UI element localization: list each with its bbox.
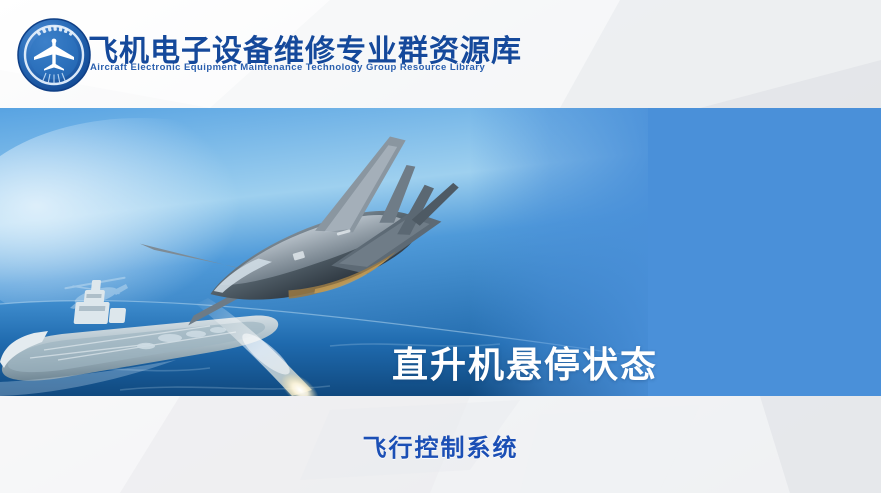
course-name: 飞行控制系统 — [0, 428, 881, 463]
site-header: 飞机电子设备维修专业群资源库 Aircraft Electronic Equip… — [0, 0, 881, 108]
slide-footer: 飞行控制系统 — [0, 396, 881, 493]
brand-title-english: Aircraft Electronic Equipment Maintenanc… — [90, 62, 485, 73]
organization-logo[interactable] — [16, 17, 92, 93]
circular-aircraft-emblem-icon — [16, 17, 92, 93]
title-banner: 直升机悬停状态 鄢 立 — [0, 108, 881, 396]
presentation-slide: 飞机电子设备维修专业群资源库 Aircraft Electronic Equip… — [0, 0, 881, 493]
slide-title: 直升机悬停状态 — [392, 336, 658, 388]
